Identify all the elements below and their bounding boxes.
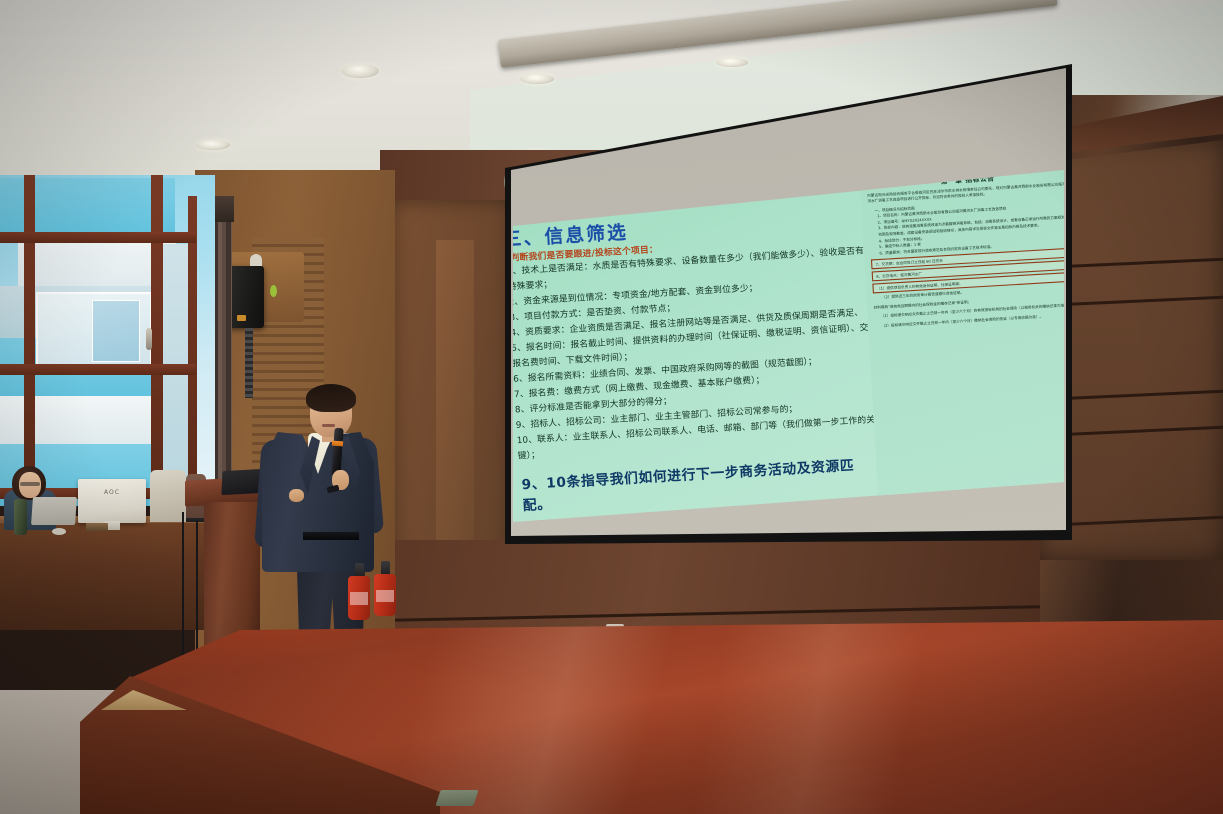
speaker-green-light <box>270 285 277 297</box>
tender-document-panel: 第一章 招标公告 内蒙古阳光采购综合服务平台受临河区巴彦淖尔市供水排水有限责任公… <box>859 170 1064 521</box>
microphone-indicator-ring <box>332 441 343 447</box>
ceiling-downlight <box>341 64 379 78</box>
attendee-laptop[interactable] <box>31 497 77 525</box>
presenter-eye <box>316 405 323 408</box>
presenter-left-hand <box>289 489 304 502</box>
thermos-bottle <box>14 499 27 535</box>
projected-slide: 一诺环境 Innovation Environment Innogreen 英诺… <box>513 170 1064 522</box>
speaker-cable <box>245 328 253 398</box>
desk-mouse[interactable] <box>52 528 66 535</box>
window-mullion-vertical <box>24 175 35 505</box>
window-mullion-horizontal <box>0 232 196 243</box>
presenter-hair <box>306 384 356 412</box>
ceiling-downlight <box>520 74 554 84</box>
window-view-frame <box>92 300 140 362</box>
desk-nameplate <box>86 523 108 531</box>
window-mullion-vertical <box>151 175 163 505</box>
presenter-eye <box>336 404 343 407</box>
ceiling-downlight <box>196 140 230 150</box>
conference-room-photo: 一诺环境 Innovation Environment Innogreen 英诺… <box>0 0 1223 814</box>
slide-canvas: 一诺环境 Innovation Environment Innogreen 英诺… <box>513 170 1064 522</box>
desktop-monitor <box>78 479 146 523</box>
speaker-badge <box>237 315 246 321</box>
seated-attendee-glasses <box>20 482 40 486</box>
floor-socket-cover[interactable] <box>435 790 478 806</box>
window-mullion-horizontal <box>0 364 196 375</box>
monitor-brand-label: AOC <box>100 489 124 496</box>
audience-chair <box>150 470 186 522</box>
speaker-mount <box>250 254 262 266</box>
extinguisher-label <box>376 590 394 602</box>
presenter-mouth <box>322 424 335 427</box>
podium-cable <box>196 520 200 670</box>
presenter-belt <box>303 532 359 540</box>
slide-body-list: 1、技术上是否满足：水质是否有特殊要求、设备数量在多少（我们能做多少）、验收是否… <box>513 245 848 464</box>
extinguisher-label <box>350 592 368 605</box>
ceiling-downlight <box>716 58 748 67</box>
window-handle[interactable] <box>146 328 152 350</box>
